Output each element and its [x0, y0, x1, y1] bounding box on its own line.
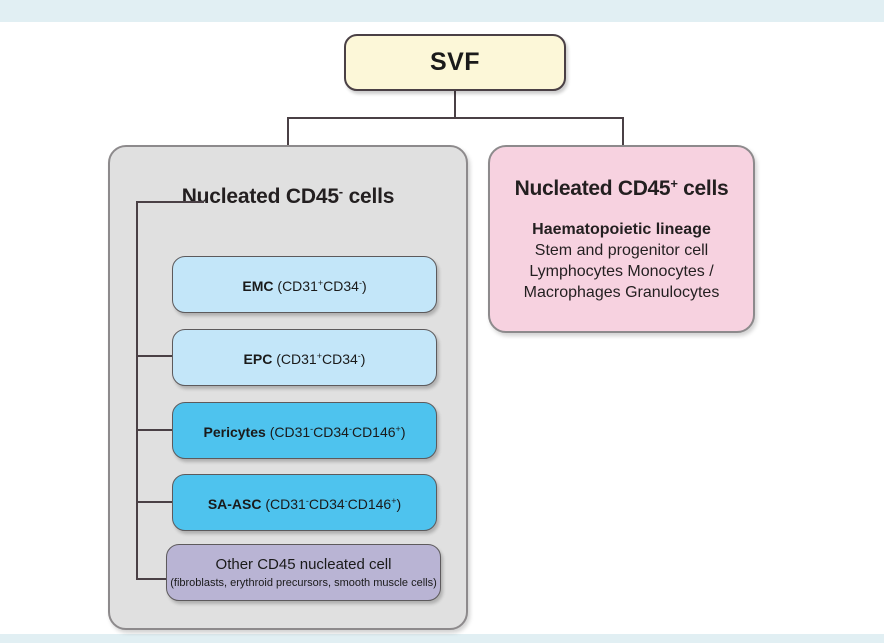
connector-drop-left-group [287, 117, 289, 146]
connector-stub-title [136, 201, 204, 203]
leaf-other-sub-label: (fibroblasts, erythroid precursors, smoo… [170, 576, 437, 591]
haematopoietic-line-2: Lymphocytes Monocytes / [490, 261, 753, 282]
haematopoietic-line-1: Stem and progenitor cell [490, 240, 753, 261]
connector-stub-pericytes [136, 429, 174, 431]
connector-stub-saasc [136, 501, 174, 503]
node-svf[interactable]: SVF [344, 34, 566, 91]
leaf-other-main-label: Other CD45 nucleated cell [216, 555, 392, 574]
diagram-canvas: SVF Nucleated CD45- cells EMC (CD31+CD34… [0, 0, 884, 643]
connector-stub-epc [136, 355, 174, 357]
node-svf-label: SVF [430, 48, 480, 77]
haematopoietic-lineage-heading: Haematopoietic lineage [490, 219, 753, 240]
haematopoietic-line-3: Macrophages Granulocytes [490, 282, 753, 303]
leaf-pericytes-label: Pericytes (CD31-CD34-CD146+) [204, 420, 406, 441]
leaf-epc[interactable]: EPC (CD31+CD34-) [172, 329, 437, 386]
leaf-epc-markers: (CD31+CD34-) [276, 351, 365, 367]
leaf-emc[interactable]: EMC (CD31+CD34-) [172, 256, 437, 313]
pink-title-pre: Nucleated CD45 [515, 177, 671, 200]
group-title-pre: Nucleated CD45 [182, 185, 339, 208]
leaf-emc-markers: (CD31+CD34-) [277, 278, 366, 294]
connector-drop-right-group [622, 117, 624, 146]
group-nucleated-cd45-positive[interactable]: Nucleated CD45+ cells Haematopoietic lin… [488, 145, 755, 333]
connector-stub-other [136, 578, 169, 580]
leaf-emc-name: EMC [242, 278, 273, 294]
leaf-pericytes-markers: (CD31-CD34-CD146+) [270, 424, 406, 440]
leaf-pericytes[interactable]: Pericytes (CD31-CD34-CD146+) [172, 402, 437, 459]
leaf-sa-asc-markers: (CD31-CD34-CD146+) [265, 496, 401, 512]
leaf-pericytes-name: Pericytes [204, 424, 266, 440]
leaf-sa-asc[interactable]: SA-ASC (CD31-CD34-CD146+) [172, 474, 437, 531]
leaf-emc-label: EMC (CD31+CD34-) [242, 274, 366, 295]
pink-title-post: cells [678, 177, 729, 200]
pink-title-superscript: + [670, 176, 677, 191]
leaf-other-cd45-nucleated-cell[interactable]: Other CD45 nucleated cell (fibroblasts, … [166, 544, 441, 601]
connector-left-spine [136, 201, 138, 580]
leaf-epc-name: EPC [244, 351, 273, 367]
group-nucleated-cd45-positive-title: Nucleated CD45+ cells [490, 176, 753, 201]
leaf-sa-asc-name: SA-ASC [208, 496, 262, 512]
connector-root-trunk [454, 91, 456, 119]
group-nucleated-cd45-negative-title: Nucleated CD45- cells [108, 184, 468, 209]
connector-root-horizontal [287, 117, 624, 119]
leaf-epc-label: EPC (CD31+CD34-) [244, 347, 366, 368]
group-title-post: cells [343, 185, 394, 208]
leaf-sa-asc-label: SA-ASC (CD31-CD34-CD146+) [208, 492, 401, 513]
